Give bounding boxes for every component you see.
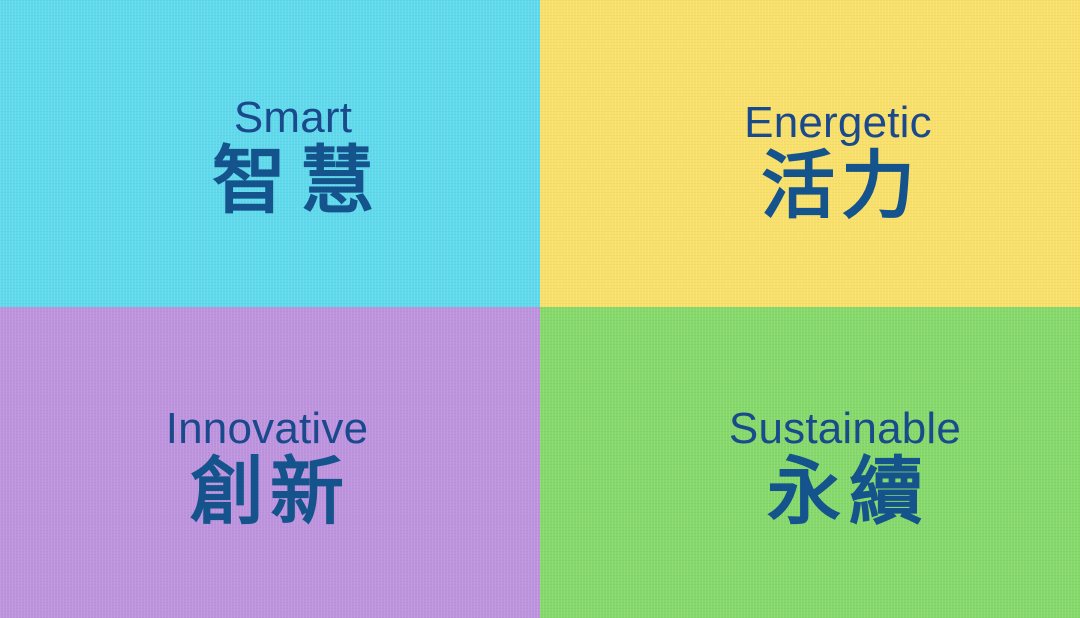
quadrant-grid: Smart 智慧 Energetic 活力 Innovative 創新 Sust… — [0, 0, 1080, 618]
quadrant-smart[interactable]: Smart 智慧 — [0, 0, 540, 307]
brand-values-canvas: Smart 智慧 Energetic 活力 Innovative 創新 Sust… — [0, 0, 1080, 618]
quadrant-smart-content: Smart 智慧 — [198, 96, 388, 218]
quadrant-innovative-label-zh: 創新 — [184, 455, 350, 529]
quadrant-sustainable-content: Sustainable 永續 — [729, 407, 961, 529]
quadrant-energetic-content: Energetic 活力 — [744, 101, 932, 223]
quadrant-energetic[interactable]: Energetic 活力 — [540, 0, 1080, 307]
quadrant-smart-label-zh: 智慧 — [198, 144, 388, 218]
quadrant-innovative-label-en: Innovative — [166, 407, 369, 451]
quadrant-innovative[interactable]: Innovative 創新 — [0, 307, 540, 618]
quadrant-sustainable-label-en: Sustainable — [729, 407, 961, 451]
quadrant-energetic-label-en: Energetic — [744, 101, 932, 145]
quadrant-sustainable[interactable]: Sustainable 永續 — [540, 307, 1080, 618]
quadrant-smart-label-en: Smart — [234, 96, 352, 140]
quadrant-energetic-label-zh: 活力 — [755, 149, 921, 223]
quadrant-sustainable-label-zh: 永續 — [759, 455, 931, 529]
quadrant-innovative-content: Innovative 創新 — [166, 407, 369, 529]
